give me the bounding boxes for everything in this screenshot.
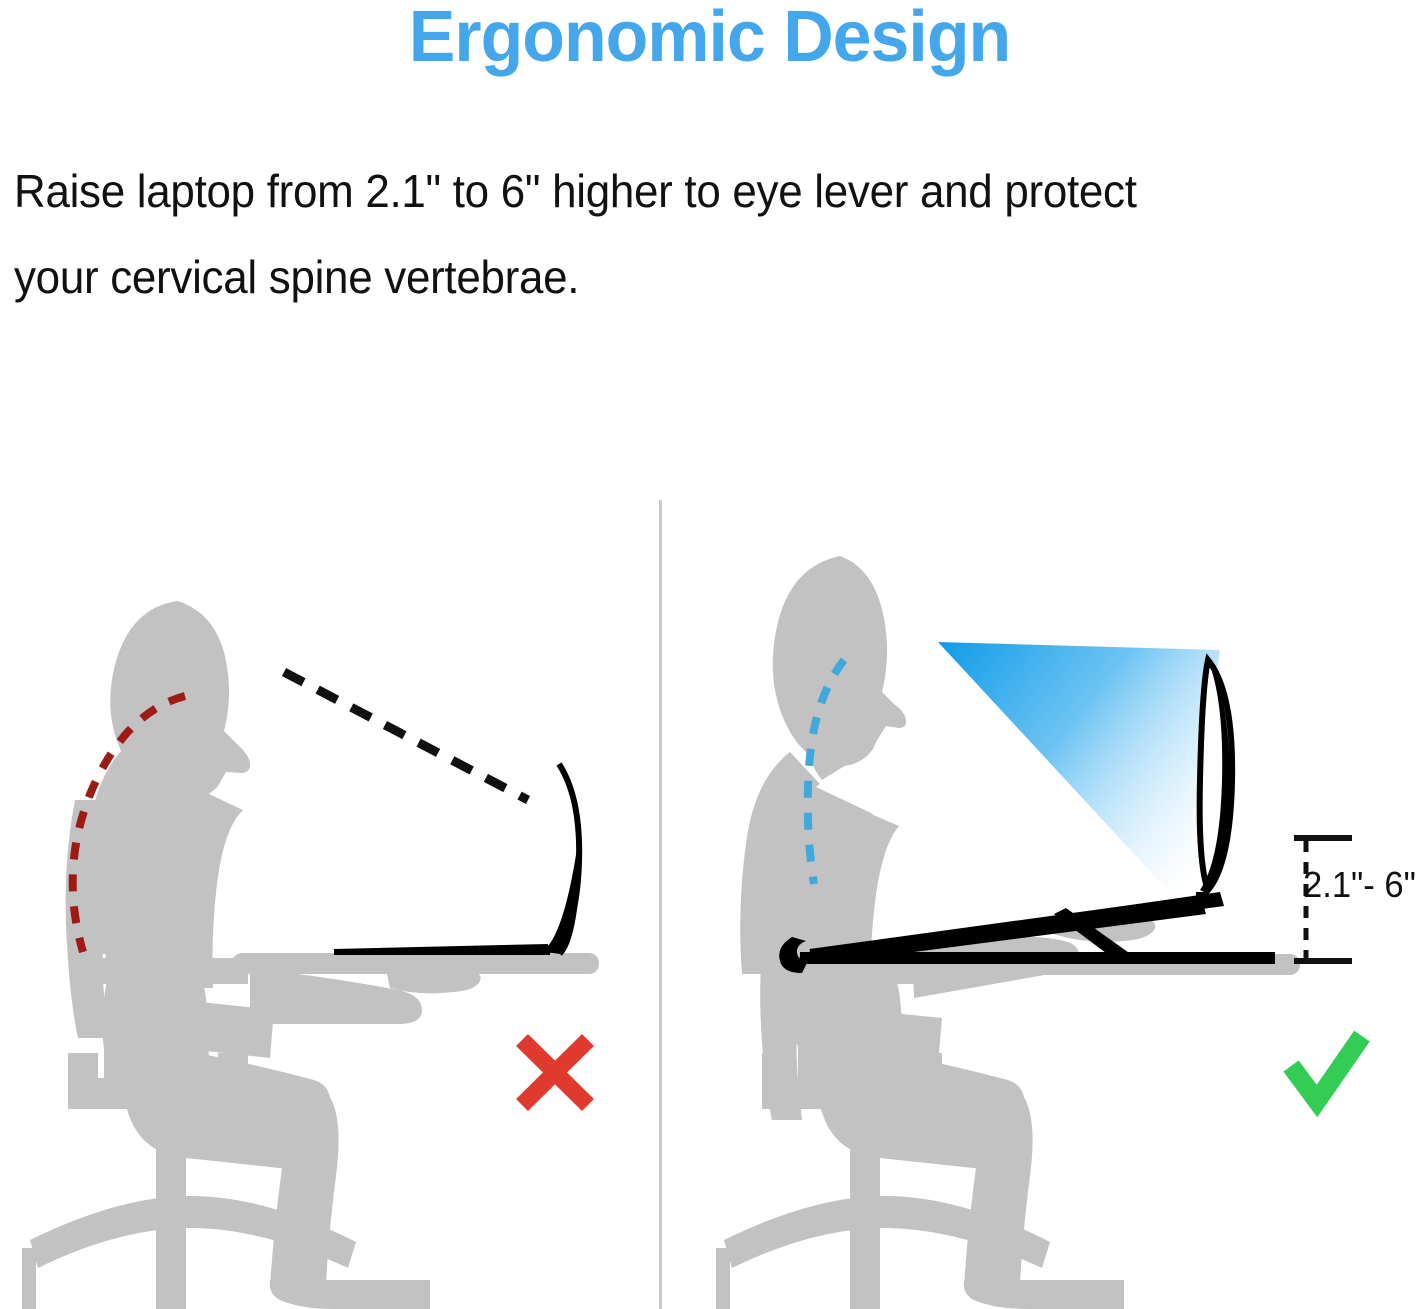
vision-cone [938, 642, 1220, 910]
stand-base-bar [800, 952, 1275, 964]
incorrect-posture-illustration [0, 500, 659, 1309]
green-check-icon [1291, 1036, 1362, 1101]
laptop-flat [334, 764, 579, 954]
eye [917, 615, 933, 641]
height-measurement-label: 2.1"- 6" [1303, 864, 1416, 906]
infographic-page: Ergonomic Design Raise laptop from 2.1" … [0, 0, 1419, 1309]
page-title: Ergonomic Design [21, 0, 1397, 78]
downward-sight-line [284, 672, 528, 800]
eye [264, 653, 280, 675]
subtitle-line-1: Raise laptop from 2.1" to 6" higher to e… [14, 148, 1332, 234]
page-subtitle: Raise laptop from 2.1" to 6" higher to e… [14, 148, 1332, 320]
subtitle-line-2: your cervical spine vertebrae. [14, 234, 1332, 320]
desk-surface [232, 953, 599, 974]
incorrect-posture-panel [0, 500, 659, 1309]
red-x-icon [522, 1040, 588, 1105]
